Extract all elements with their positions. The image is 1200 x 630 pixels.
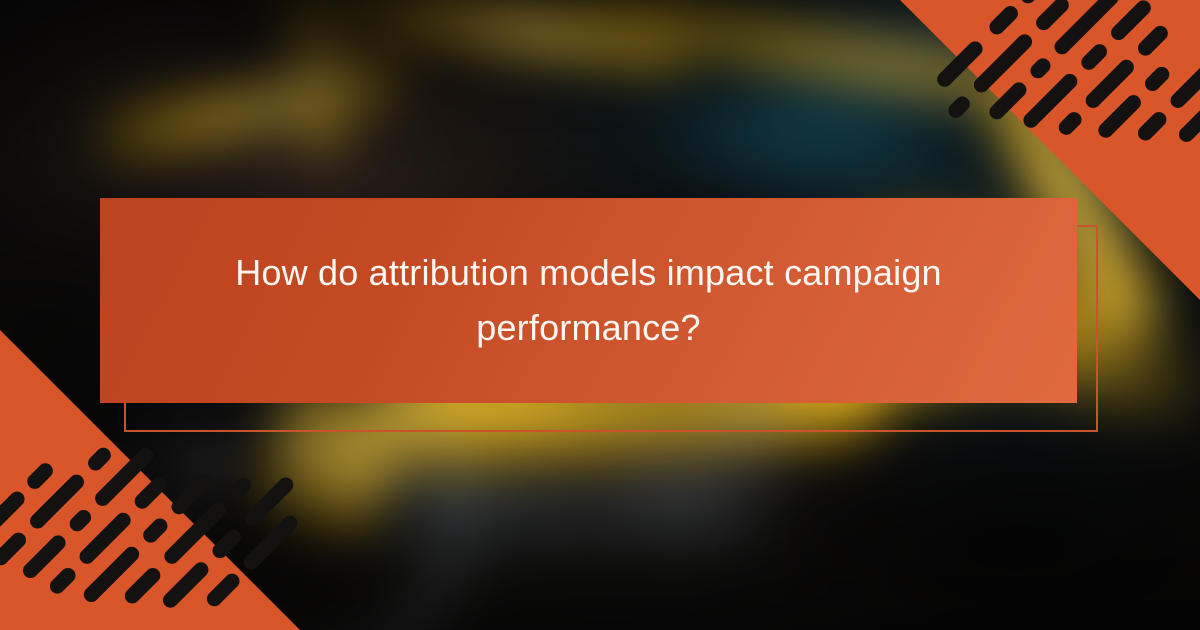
question-banner: How do attribution models impact campaig… xyxy=(100,198,1077,403)
page-title: How do attribution models impact campaig… xyxy=(209,246,969,355)
social-card: How do attribution models impact campaig… xyxy=(0,0,1200,630)
